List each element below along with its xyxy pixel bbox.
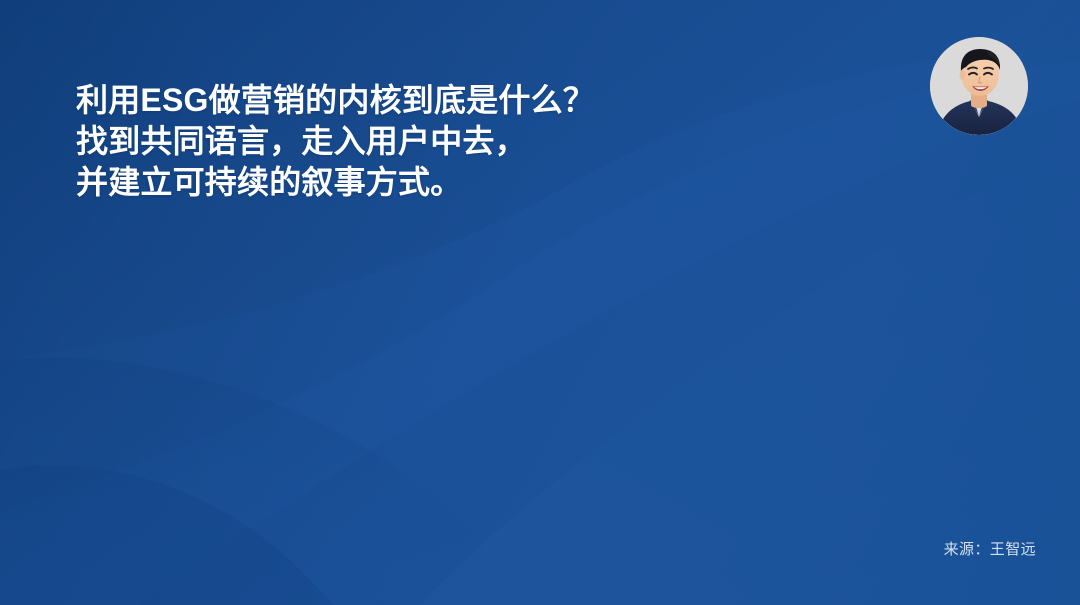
headline-line-2: 找到共同语言，走入用户中去， [76, 121, 836, 162]
source-label: 来源：王智远 [944, 538, 1036, 559]
avatar [930, 37, 1028, 135]
headline-text: 利用ESG做营销的内核到底是什么？ 找到共同语言，走入用户中去， 并建立可持续的… [76, 80, 836, 203]
headline-line-3: 并建立可持续的叙事方式。 [76, 162, 836, 203]
headline-line-1: 利用ESG做营销的内核到底是什么？ [76, 80, 836, 121]
presentation-slide: 利用ESG做营销的内核到底是什么？ 找到共同语言，走入用户中去， 并建立可持续的… [0, 0, 1080, 605]
avatar-portrait-icon [930, 37, 1028, 135]
